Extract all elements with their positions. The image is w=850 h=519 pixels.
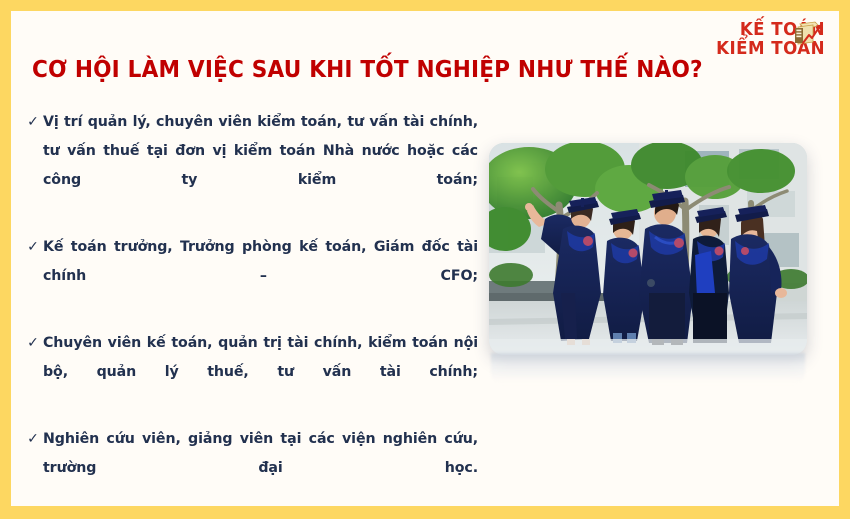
graduation-photo — [489, 143, 807, 355]
brand-logo-text: KẾ TOÁN KIỂM TOÁN — [700, 21, 825, 58]
slide-root: KẾ TOÁN KIỂM TOÁN CƠ HỘI LÀM VIỆC SAU KH… — [0, 0, 850, 519]
graduation-photo-wrap — [489, 143, 823, 385]
list-item-text: Kế toán trưởng, Trưởng phòng kế toán, Gi… — [43, 233, 478, 320]
list-item: ✓ Kế toán trưởng, Trưởng phòng kế toán, … — [23, 233, 478, 320]
list-item: ✓ Vị trí quản lý, chuyên viên kiểm toán,… — [23, 108, 478, 224]
graduation-photo-illustration — [489, 143, 807, 355]
check-icon: ✓ — [23, 233, 43, 262]
photo-reflection — [491, 353, 805, 383]
list-item-text: Vị trí quản lý, chuyên viên kiểm toán, t… — [43, 108, 478, 224]
list-item-text: Nghiên cứu viên, giảng viên tại các viện… — [43, 425, 478, 506]
slide-canvas: KẾ TOÁN KIỂM TOÁN CƠ HỘI LÀM VIỆC SAU KH… — [11, 11, 839, 506]
list-item-text: Chuyên viên kế toán, quản trị tài chính,… — [43, 329, 478, 416]
list-item: ✓ Nghiên cứu viên, giảng viên tại các vi… — [23, 425, 478, 506]
page-title: CƠ HỘI LÀM VIỆC SAU KHI TỐT NGHIỆP NHƯ T… — [32, 57, 676, 83]
benefits-list: ✓ Vị trí quản lý, chuyên viên kiểm toán,… — [23, 108, 478, 506]
list-item: ✓ Chuyên viên kế toán, quản trị tài chín… — [23, 329, 478, 416]
check-icon: ✓ — [23, 108, 43, 137]
brand-logo: KẾ TOÁN KIỂM TOÁN — [700, 19, 825, 73]
brand-logo-line-2: KIỂM TOÁN — [706, 40, 825, 59]
check-icon: ✓ — [23, 329, 43, 358]
brand-logo-line-1: KẾ TOÁN — [706, 21, 825, 40]
check-icon: ✓ — [23, 425, 43, 454]
